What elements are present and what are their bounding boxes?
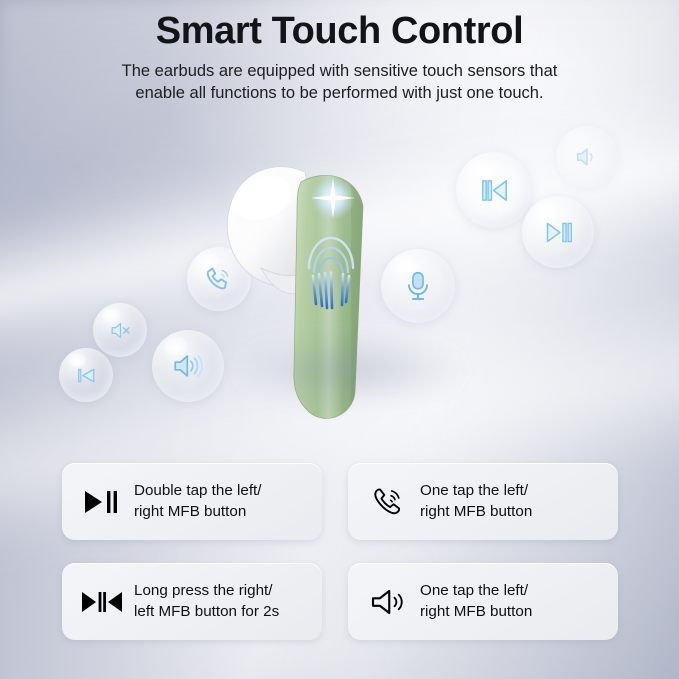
card-line-2: right MFB button [134,502,262,522]
page-title: Smart Touch Control [0,10,679,53]
play-pause-icon [76,489,128,515]
card-label: Long press the right/ left MFB button fo… [128,581,279,621]
bubble-previous-track-left [59,348,113,402]
earbud-shadow [235,335,465,405]
bubble-volume-partial [556,126,618,188]
card-line-1: One tap the left/ [420,481,532,501]
page-subtitle: The earbuds are equipped with sensitive … [70,60,610,106]
subtitle-line-1: The earbuds are equipped with sensitive … [70,60,610,83]
card-label: Double tap the left/ right MFB button [128,481,262,521]
next-previous-track-icon [76,589,128,615]
header: Smart Touch Control The earbuds are equi… [0,10,679,105]
card-label: One tap the left/ right MFB button [414,581,532,621]
card-line-2: right MFB button [420,602,532,622]
card-long-press[interactable]: Long press the right/ left MFB button fo… [62,563,322,640]
card-one-tap-call[interactable]: One tap the left/ right MFB button [348,463,618,540]
subtitle-line-2: enable all functions to be performed wit… [70,82,610,105]
control-instruction-cards: Double tap the left/ right MFB button On… [62,463,618,640]
card-line-1: Double tap the left/ [134,481,262,501]
card-line-2: right MFB button [420,502,532,522]
card-line-1: Long press the right/ [134,581,279,601]
speaker-volume-icon [362,587,414,617]
previous-track-icon [74,363,99,388]
bubble-play-pause [522,196,594,268]
phone-call-icon [362,485,414,519]
volume-icon [573,143,601,171]
speaker-waves-icon [171,349,205,383]
speaker-mute-icon [108,318,133,343]
play-pause-icon [542,216,575,249]
card-line-2: left MFB button for 2s [134,602,279,622]
card-double-tap[interactable]: Double tap the left/ right MFB button [62,463,322,540]
card-one-tap-volume[interactable]: One tap the left/ right MFB button [348,563,618,640]
earbud-product-image [205,120,495,440]
product-infographic: Smart Touch Control The earbuds are equi… [0,0,679,679]
card-label: One tap the left/ right MFB button [414,481,532,521]
card-line-1: One tap the left/ [420,581,532,601]
bubble-speaker-mute [93,303,147,357]
touch-sparkle-icon [311,176,355,220]
